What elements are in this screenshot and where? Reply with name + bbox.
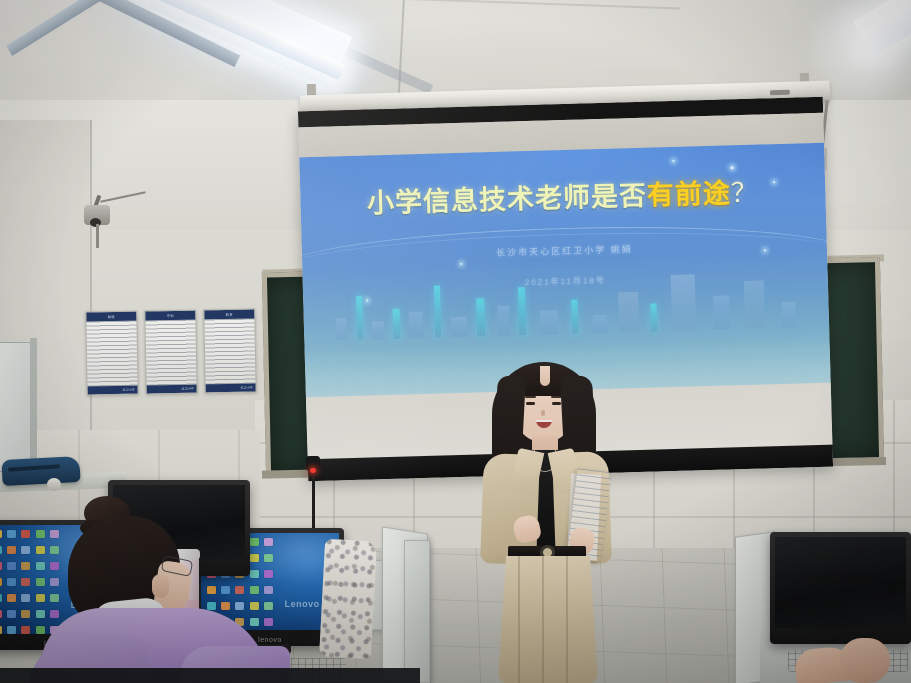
wall-poster: 守则 红卫小学 xyxy=(144,310,197,395)
foreground-shadow xyxy=(0,668,420,683)
desk-partition-center-inner xyxy=(404,540,430,683)
cabinet-jamb xyxy=(30,338,37,478)
presenter-eye-left xyxy=(526,402,535,405)
bag-roll-item xyxy=(47,478,61,491)
wall-poster: 职责 红卫小学 xyxy=(203,309,256,394)
draped-jacket xyxy=(319,539,377,660)
desktop-icon[interactable] xyxy=(0,625,4,634)
desktop-icon[interactable] xyxy=(5,529,18,544)
slide-title-highlight: 有前途 xyxy=(647,178,732,210)
classroom-photo-scene: 制度 红卫小学 守则 红卫小学 职责 红卫小学 xyxy=(0,0,911,683)
monitor-display[interactable] xyxy=(775,537,906,628)
wallpaper-watermark: Lenovo xyxy=(285,599,320,609)
desktop-icon[interactable] xyxy=(0,545,4,560)
presenter-nose xyxy=(541,410,545,416)
poster-body xyxy=(86,321,137,389)
camera-pole xyxy=(96,224,99,248)
presenter-skirt-pleat xyxy=(566,556,568,683)
desktop-icon[interactable] xyxy=(0,561,4,576)
slide-city-skyline xyxy=(302,241,829,342)
desktop-icon[interactable] xyxy=(5,561,18,576)
desktop-icon[interactable] xyxy=(0,593,4,608)
student-hand-right-second xyxy=(840,638,890,683)
presenter-skirt xyxy=(498,556,598,683)
presenter-eye-right xyxy=(552,402,561,405)
desktop-icon[interactable] xyxy=(0,609,4,624)
poster-body xyxy=(145,320,196,388)
presenter-skirt-pleat xyxy=(518,556,520,683)
presenter-fringe-split xyxy=(540,366,550,386)
presenter-eyebrow-left xyxy=(525,396,536,398)
housing-label-plate xyxy=(770,90,790,96)
slide-title: 小学信息技术老师是否有前途？ xyxy=(300,169,826,223)
desktop-icon[interactable] xyxy=(5,593,18,608)
poster-footer: 红卫小学 xyxy=(88,386,138,395)
desktop-icon[interactable] xyxy=(5,625,18,634)
slide-title-plain: 小学信息技术老师是否 xyxy=(367,181,648,219)
wall-poster: 制度 红卫小学 xyxy=(85,311,138,396)
slide-title-question-mark: ？ xyxy=(730,178,759,209)
slide-sparkle xyxy=(730,166,733,169)
presenter-skirt-pleat xyxy=(542,556,544,683)
student-ear xyxy=(152,574,169,598)
wall-cabinet[interactable] xyxy=(0,342,32,472)
ceiling-seam-secondary xyxy=(250,0,680,10)
poster-body xyxy=(204,319,255,387)
poster-footer: 红卫小学 xyxy=(147,385,197,394)
teacher-presenter xyxy=(470,358,620,683)
desktop-icon[interactable] xyxy=(5,577,18,592)
slide-sparkle xyxy=(672,160,674,162)
workstation-monitor-right[interactable] xyxy=(770,532,911,644)
desktop-icon[interactable] xyxy=(0,577,4,592)
desktop-icon[interactable] xyxy=(5,609,18,624)
desktop-icon[interactable] xyxy=(0,529,4,544)
poster-footer: 红卫小学 xyxy=(206,384,256,393)
desktop-icon[interactable] xyxy=(5,545,18,560)
microphone-status-led xyxy=(310,468,316,473)
foreground-student xyxy=(30,496,280,683)
wall-poster-group: 制度 红卫小学 守则 红卫小学 职责 红卫小学 xyxy=(85,309,258,398)
